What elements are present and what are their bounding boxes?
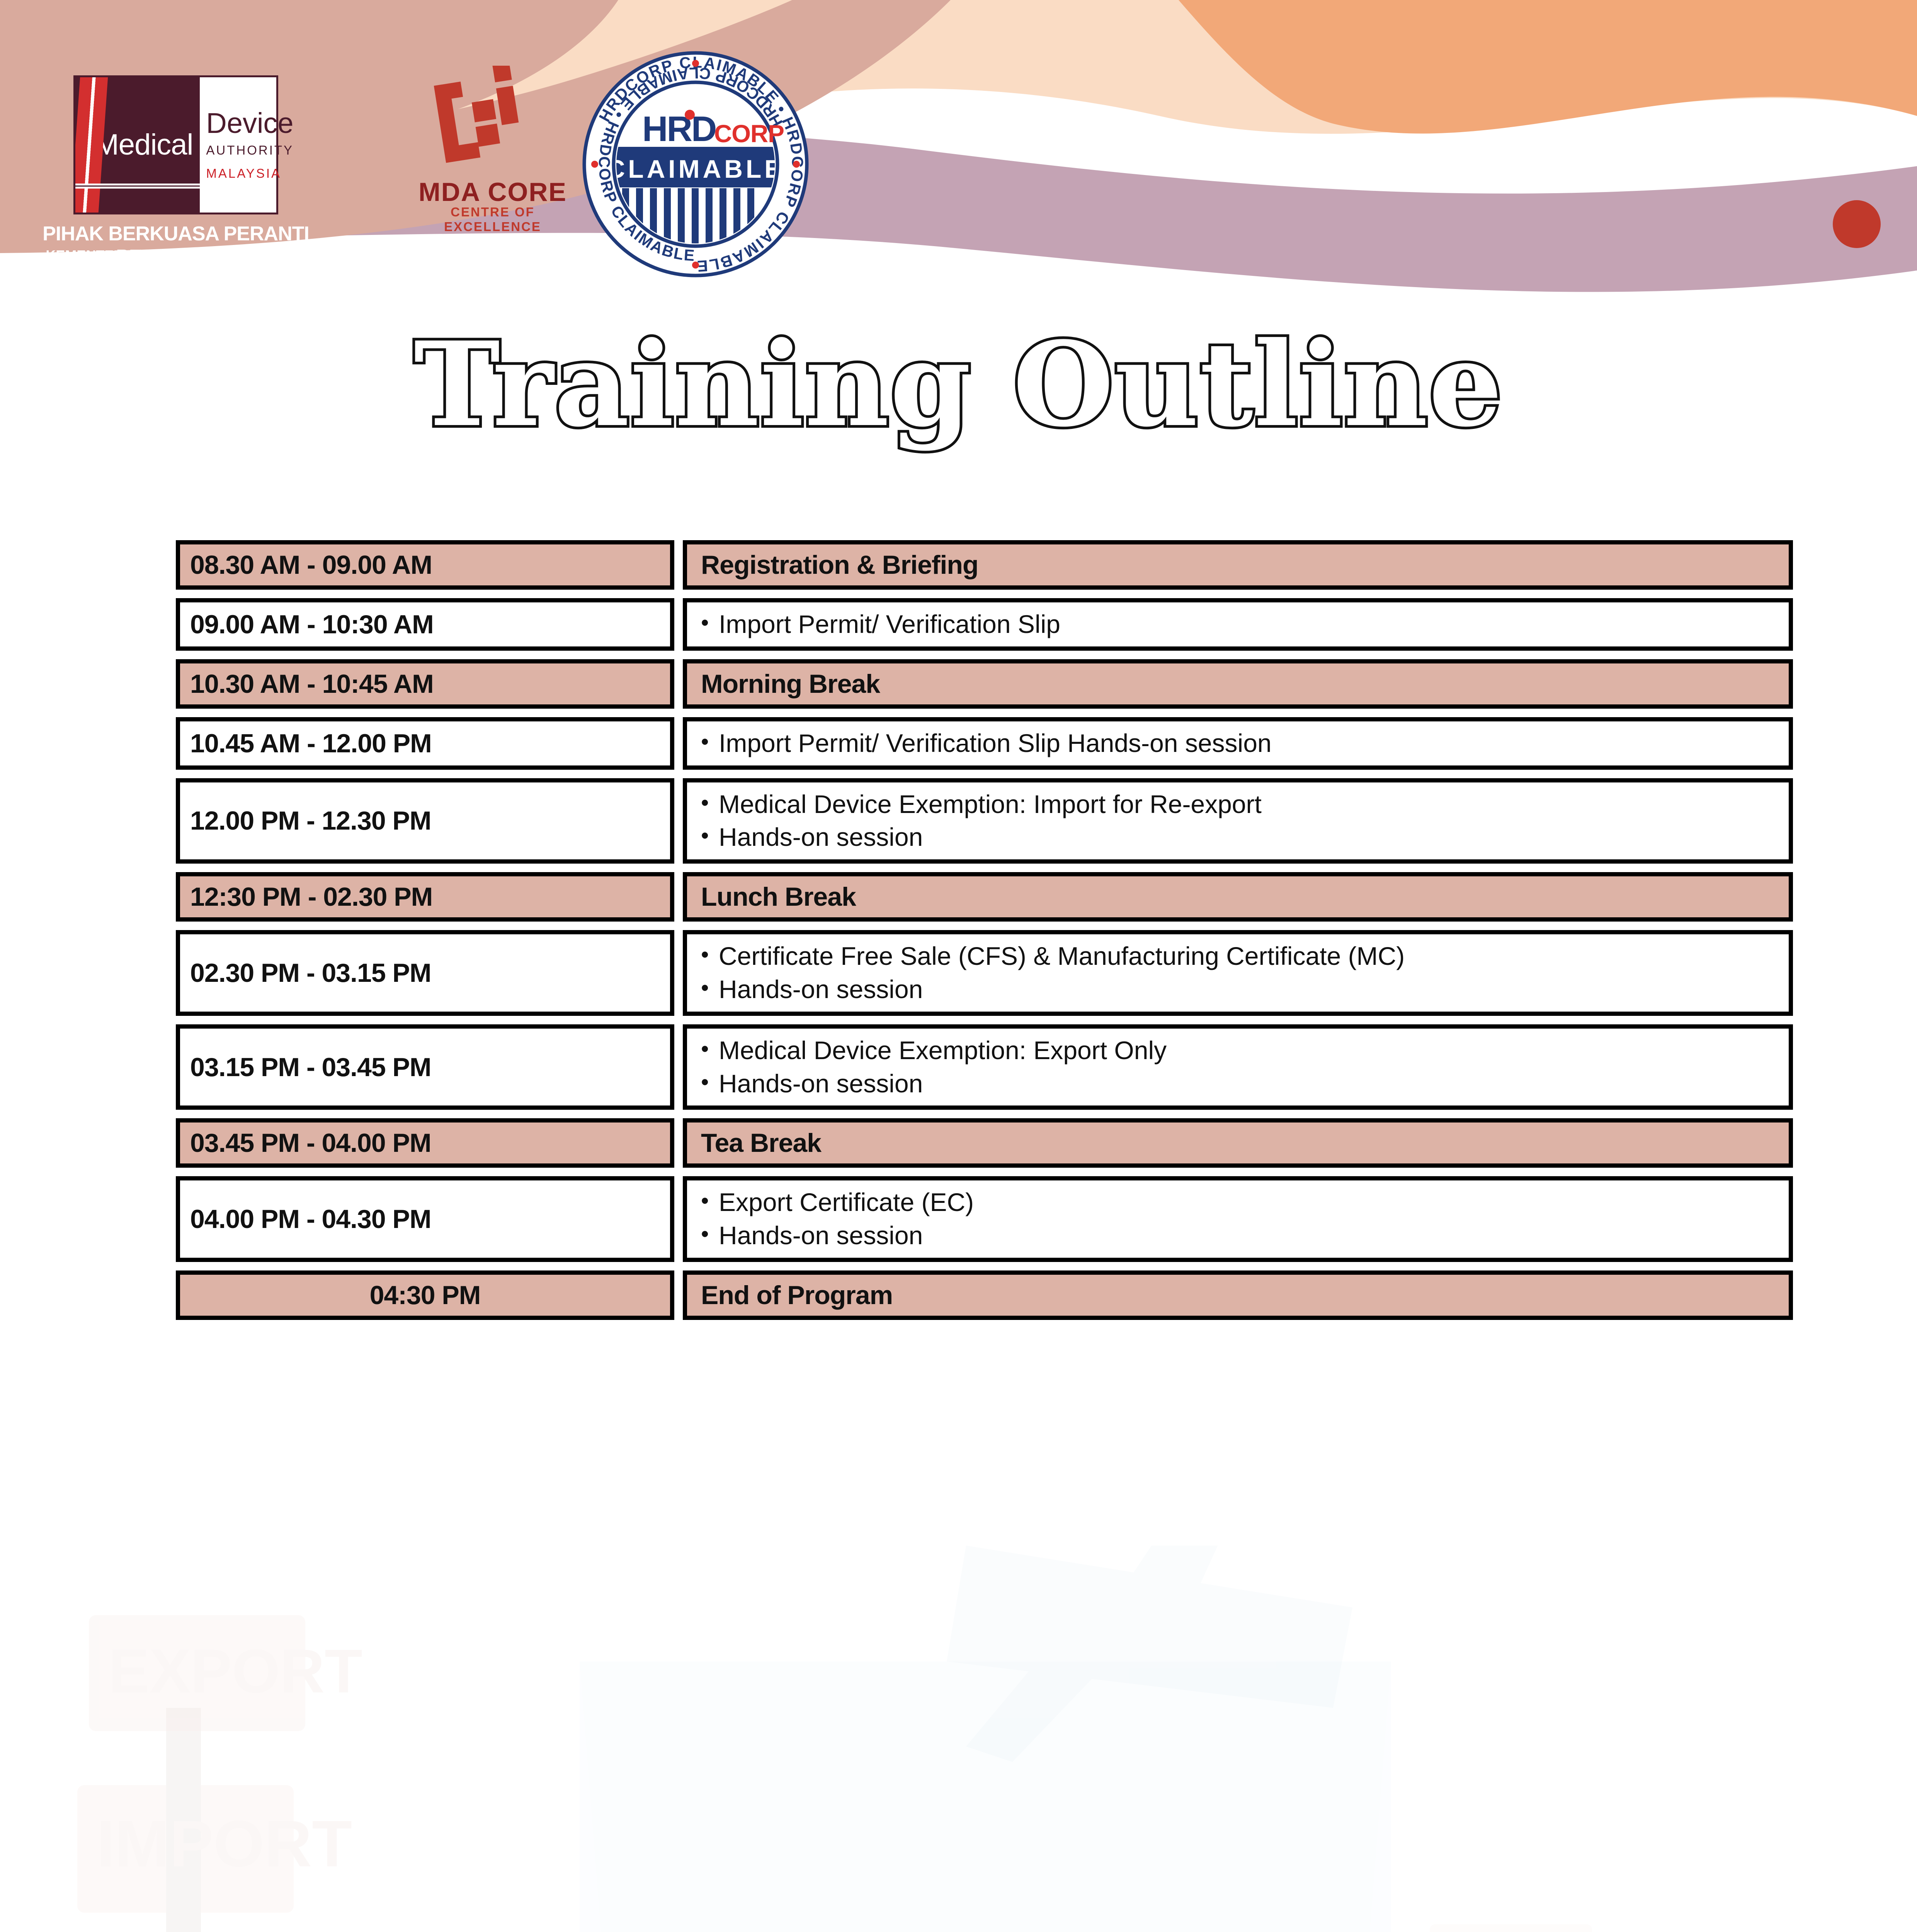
bullet-marker-icon: • bbox=[701, 821, 719, 851]
table-row: 08.30 AM - 09.00 AMRegistration & Briefi… bbox=[176, 540, 1793, 590]
schedule-time-cell: 10.45 AM - 12.00 PM bbox=[176, 717, 674, 770]
activity-bullet: •Hands-on session bbox=[701, 821, 1775, 854]
activity-bullet: •Hands-on session bbox=[701, 1067, 1775, 1100]
schedule-activity-cell: •Medical Device Exemption: Export Only•H… bbox=[683, 1024, 1793, 1110]
table-row: 12.00 PM - 12.30 PM•Medical Device Exemp… bbox=[176, 778, 1793, 864]
schedule-activity-cell: End of Program bbox=[683, 1270, 1793, 1320]
schedule-time-cell: 09.00 AM - 10:30 AM bbox=[176, 598, 674, 651]
mda-core-name: MDA CORE bbox=[402, 177, 583, 207]
activity-label: Lunch Break bbox=[701, 882, 1775, 912]
svg-text:IMPORT: IMPORT bbox=[97, 1807, 352, 1881]
table-row: 03.15 PM - 03.45 PM•Medical Device Exemp… bbox=[176, 1024, 1793, 1110]
mda-logo-right-panel: Device AUTHORITY MALAYSIA bbox=[200, 77, 276, 213]
table-row: 09.00 AM - 10:30 AM•Import Permit/ Verif… bbox=[176, 598, 1793, 651]
column-gap bbox=[674, 659, 683, 709]
table-row: 10.45 AM - 12.00 PM•Import Permit/ Verif… bbox=[176, 717, 1793, 770]
schedule-time-cell: 03.45 PM - 04.00 PM bbox=[176, 1118, 674, 1168]
bullet-marker-icon: • bbox=[701, 608, 719, 638]
bullet-text: Certificate Free Sale (CFS) & Manufactur… bbox=[719, 940, 1405, 973]
table-row: 02.30 PM - 03.15 PM•Certificate Free Sal… bbox=[176, 930, 1793, 1016]
column-gap bbox=[674, 717, 683, 770]
column-gap bbox=[674, 1176, 683, 1262]
table-row: 12:30 PM - 02.30 PMLunch Break bbox=[176, 872, 1793, 922]
schedule-time-cell: 12.00 PM - 12.30 PM bbox=[176, 778, 674, 864]
mda-caption-ministry: KEMENTERIAN KESIHATAN MALAYSIA bbox=[0, 247, 352, 264]
mda-logo-horizontal-rule bbox=[75, 184, 200, 189]
svg-text:CORP: CORP bbox=[714, 120, 784, 148]
bullet-marker-icon: • bbox=[701, 940, 719, 970]
page-title: Training Outline bbox=[0, 327, 1917, 442]
activity-bullet: •Hands-on session bbox=[701, 1219, 1775, 1252]
activity-bullet: •Certificate Free Sale (CFS) & Manufactu… bbox=[701, 940, 1775, 973]
schedule-time-cell: 10.30 AM - 10:45 AM bbox=[176, 659, 674, 709]
schedule-time-cell: 08.30 AM - 09.00 AM bbox=[176, 540, 674, 590]
mda-core-logo: MDA CORE CENTRE OF EXCELLENCE bbox=[402, 66, 583, 228]
schedule-activity-cell: •Import Permit/ Verification Slip bbox=[683, 598, 1793, 651]
schedule-time-cell: 03.15 PM - 03.45 PM bbox=[176, 1024, 674, 1110]
bullet-text: Import Permit/ Verification Slip Hands-o… bbox=[719, 727, 1272, 760]
table-row: 04:30 PMEnd of Program bbox=[176, 1270, 1793, 1320]
bullet-text: Hands-on session bbox=[719, 1067, 923, 1100]
activity-bullet: •Export Certificate (EC) bbox=[701, 1186, 1775, 1219]
mda-logo-red-stripe bbox=[75, 77, 108, 213]
table-row: 04.00 PM - 04.30 PM•Export Certificate (… bbox=[176, 1176, 1793, 1262]
bullet-text: Hands-on session bbox=[719, 821, 923, 854]
activity-bullet: •Medical Device Exemption: Import for Re… bbox=[701, 788, 1775, 821]
background-watermark-illustration: IMPORT EXPORT bbox=[0, 1546, 1917, 1932]
activity-bullet: •Import Permit/ Verification Slip bbox=[701, 608, 1775, 641]
column-gap bbox=[674, 930, 683, 1016]
schedule-activity-cell: Morning Break bbox=[683, 659, 1793, 709]
schedule-time-cell: 02.30 PM - 03.15 PM bbox=[176, 930, 674, 1016]
svg-text:HRD: HRD bbox=[642, 109, 716, 149]
training-schedule-table: 08.30 AM - 09.00 AMRegistration & Briefi… bbox=[176, 540, 1793, 1328]
schedule-activity-cell: •Medical Device Exemption: Import for Re… bbox=[683, 778, 1793, 864]
activity-bullet: •Hands-on session bbox=[701, 973, 1775, 1006]
schedule-activity-cell: Registration & Briefing bbox=[683, 540, 1793, 590]
schedule-time-cell: 04.00 PM - 04.30 PM bbox=[176, 1176, 674, 1262]
bullet-text: Export Certificate (EC) bbox=[719, 1186, 974, 1219]
bullet-text: Medical Device Exemption: Import for Re-… bbox=[719, 788, 1262, 821]
bullet-marker-icon: • bbox=[701, 1034, 719, 1064]
mda-core-emblem-icon bbox=[425, 66, 537, 174]
mda-logo: Medical Device AUTHORITY MALAYSIA bbox=[73, 75, 278, 214]
bullet-marker-icon: • bbox=[701, 973, 719, 1003]
header-logo-group: Medical Device AUTHORITY MALAYSIA PIHAK … bbox=[0, 0, 734, 270]
column-gap bbox=[674, 1270, 683, 1320]
activity-label: Morning Break bbox=[701, 669, 1775, 699]
bullet-marker-icon: • bbox=[701, 1219, 719, 1249]
column-gap bbox=[674, 872, 683, 922]
activity-label: Registration & Briefing bbox=[701, 550, 1775, 580]
schedule-time-cell: 12:30 PM - 02.30 PM bbox=[176, 872, 674, 922]
bullet-marker-icon: • bbox=[701, 727, 719, 757]
table-row: 03.45 PM - 04.00 PMTea Break bbox=[176, 1118, 1793, 1168]
schedule-activity-cell: Tea Break bbox=[683, 1118, 1793, 1168]
mda-logo-word-medical: Medical bbox=[95, 130, 193, 160]
bullet-marker-icon: • bbox=[701, 1067, 719, 1097]
hrdcorp-claimable-seal: HRDCORP CLAIMABLE • HRDCORP CLAIMABLE HR… bbox=[580, 48, 811, 280]
poster-page: IMPORT EXPORT bbox=[0, 0, 1917, 1932]
schedule-activity-cell: •Export Certificate (EC)•Hands-on sessio… bbox=[683, 1176, 1793, 1262]
bullet-text: Import Permit/ Verification Slip bbox=[719, 608, 1060, 641]
bullet-text: Medical Device Exemption: Export Only bbox=[719, 1034, 1167, 1067]
bullet-text: Hands-on session bbox=[719, 1219, 923, 1252]
svg-text:EXPORT: EXPORT bbox=[108, 1636, 362, 1706]
activity-label: Tea Break bbox=[701, 1128, 1775, 1158]
mda-logo-word-malaysia: MALAYSIA bbox=[206, 166, 281, 181]
schedule-time-cell: 04:30 PM bbox=[176, 1270, 674, 1320]
mda-logo-word-authority: AUTHORITY bbox=[206, 143, 294, 158]
schedule-activity-cell: •Certificate Free Sale (CFS) & Manufactu… bbox=[683, 930, 1793, 1016]
schedule-activity-cell: Lunch Break bbox=[683, 872, 1793, 922]
column-gap bbox=[674, 1024, 683, 1110]
column-gap bbox=[674, 1118, 683, 1168]
column-gap bbox=[674, 598, 683, 651]
column-gap bbox=[674, 778, 683, 864]
mda-logo-word-device: Device bbox=[206, 109, 293, 138]
activity-label: End of Program bbox=[701, 1280, 1775, 1310]
mda-core-tagline: CENTRE OF EXCELLENCE bbox=[402, 205, 583, 234]
table-row: 10.30 AM - 10:45 AMMorning Break bbox=[176, 659, 1793, 709]
mda-logo-left-panel: Medical bbox=[75, 77, 200, 213]
column-gap bbox=[674, 540, 683, 590]
activity-bullet: •Medical Device Exemption: Export Only bbox=[701, 1034, 1775, 1067]
activity-bullet: •Import Permit/ Verification Slip Hands-… bbox=[701, 727, 1775, 760]
svg-text:CLAIMABLE: CLAIMABLE bbox=[607, 155, 785, 183]
bullet-text: Hands-on session bbox=[719, 973, 923, 1006]
bullet-marker-icon: • bbox=[701, 1186, 719, 1216]
schedule-activity-cell: •Import Permit/ Verification Slip Hands-… bbox=[683, 717, 1793, 770]
bullet-marker-icon: • bbox=[701, 788, 719, 818]
